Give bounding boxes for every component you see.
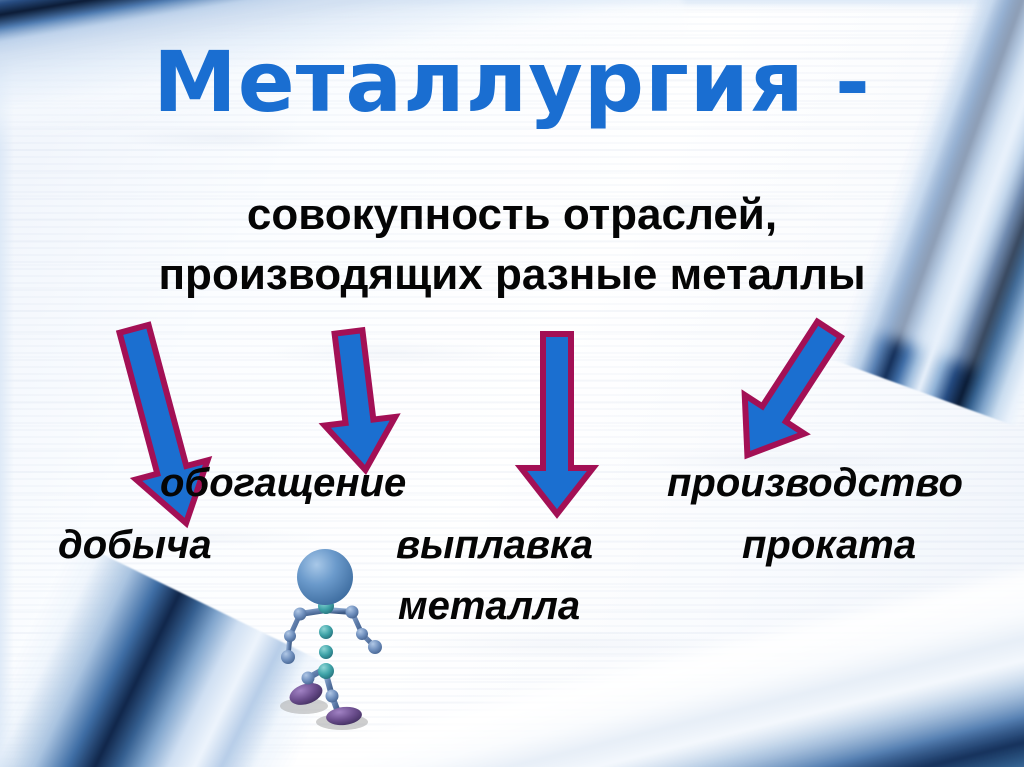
arrow-to-obogaschenie	[300, 328, 396, 478]
figure-joint-right-shoulder	[346, 606, 359, 619]
figure-joint-chest	[319, 625, 333, 639]
figure-head	[297, 549, 353, 605]
slide-title: Металлургия -	[0, 40, 1024, 124]
stage-label-prokata: проката	[742, 521, 916, 571]
figure-joint-right-knee	[326, 690, 339, 703]
stage-label-obogaschenie: обогащение	[160, 459, 406, 509]
stage-label-dobycha: добыча	[58, 521, 212, 571]
stage-label-proizvodstvo: производство	[667, 459, 963, 509]
figure-hand-left	[281, 650, 295, 664]
slide-canvas: Металлургия - совокупность отраслей, про…	[0, 0, 1024, 767]
definition-text-block: совокупность отраслей, производящих разн…	[0, 185, 1024, 305]
arrow-shape	[521, 334, 593, 514]
stage-label-metalla: металла	[398, 582, 580, 632]
edge-highlight-top	[0, 0, 1024, 10]
figure-joint-left-shoulder	[294, 608, 307, 621]
definition-line-2: производящих разные металлы	[0, 245, 1024, 305]
figure-joint-waist	[319, 645, 333, 659]
definition-line-1: совокупность отраслей,	[0, 185, 1024, 245]
figure-hand-right	[368, 640, 382, 654]
stage-label-vyplavka: выплавка	[396, 521, 593, 571]
arrow-to-vyplavka	[512, 330, 602, 520]
figure-joint-left-elbow	[284, 630, 296, 642]
figure-joint-right-elbow	[356, 628, 368, 640]
ball-and-stick-walking-figure	[258, 546, 398, 732]
figure-joint-left-knee	[302, 672, 315, 685]
arrow-shape	[718, 310, 859, 474]
figure-joint-hip	[318, 663, 334, 679]
arrow-shape	[314, 328, 401, 475]
